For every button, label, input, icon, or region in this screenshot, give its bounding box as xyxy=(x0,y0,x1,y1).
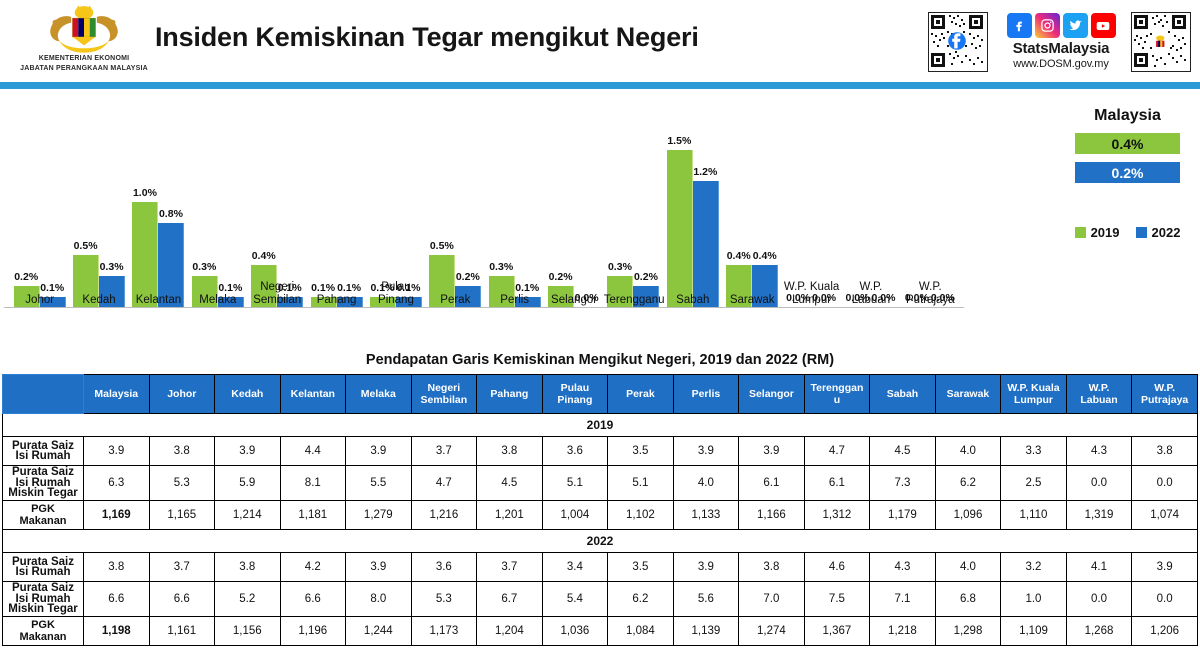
table-cell: 5.6 xyxy=(673,582,739,617)
legend-swatch-2019 xyxy=(1075,227,1086,238)
table-cell: 3.4 xyxy=(542,553,608,582)
table-cell: 1,204 xyxy=(477,617,543,646)
column-header-perlis[interactable]: Perlis xyxy=(673,375,739,414)
table-cell: 3.8 xyxy=(739,553,805,582)
bar-value-label: 0.2% xyxy=(456,271,480,283)
bar-value-label: 0.5% xyxy=(430,240,454,252)
table-cell: 3.5 xyxy=(608,553,674,582)
legend-label-2019: 2019 xyxy=(1091,225,1120,240)
bar-2019-sabah[interactable]: 1.5% xyxy=(667,150,693,308)
table-cell: 6.1 xyxy=(804,466,870,501)
table-cell: 1,109 xyxy=(1001,617,1067,646)
category-label: W.P.Putrajaya xyxy=(901,281,960,307)
table-cell: 1,298 xyxy=(935,617,1001,646)
table-cell: 4.4 xyxy=(280,437,346,466)
bar-value-label: 0.2% xyxy=(634,271,658,283)
bar-group: 0.3%0.2%Terengganu xyxy=(604,131,663,307)
table-cell: 1,206 xyxy=(1132,617,1198,646)
table-cell: 1,173 xyxy=(411,617,477,646)
category-label: Kelantan xyxy=(129,294,188,307)
table-row: Purata SaizIsi RumahMiskin Tegar6.35.35.… xyxy=(3,466,1198,501)
bar-value-label: 0.8% xyxy=(159,208,183,220)
table-cell: 3.8 xyxy=(84,553,150,582)
table-cell: 1,201 xyxy=(477,501,543,530)
column-header-sarawak[interactable]: Sarawak xyxy=(935,375,1001,414)
bar-value-label: 0.1% xyxy=(218,282,242,294)
social-icon-row xyxy=(1000,13,1122,38)
bar-value-label: 0.2% xyxy=(14,271,38,283)
category-label: Johor xyxy=(10,294,69,307)
column-header-johor[interactable]: Johor xyxy=(149,375,215,414)
page-header: KEMENTERIAN EKONOMI JABATAN PERANGKAAN M… xyxy=(0,0,1200,82)
table-cell: 1,161 xyxy=(149,617,215,646)
facebook-icon[interactable] xyxy=(1007,13,1032,38)
table-cell: 8.1 xyxy=(280,466,346,501)
category-label: Selangor xyxy=(544,294,603,307)
row-header: PGKMakanan xyxy=(3,501,84,530)
table-row: Purata SaizIsi RumahMiskin Tegar6.66.65.… xyxy=(3,582,1198,617)
table-cell: 1,181 xyxy=(280,501,346,530)
table-cell: 8.0 xyxy=(346,582,412,617)
table-cell: 0.0 xyxy=(1132,466,1198,501)
column-header-wplabuan[interactable]: W.P.Labuan xyxy=(1066,375,1132,414)
table-cell: 3.9 xyxy=(673,553,739,582)
table-cell: 3.9 xyxy=(84,437,150,466)
bar-group: 0.1%0.1%Pahang xyxy=(307,131,366,307)
column-header-pahang[interactable]: Pahang xyxy=(477,375,543,414)
column-header-kedah[interactable]: Kedah xyxy=(215,375,281,414)
table-cell: 6.3 xyxy=(84,466,150,501)
bar-value-label: 1.0% xyxy=(133,187,157,199)
category-label: NegeriSembilan xyxy=(248,281,307,307)
table-cell: 1,279 xyxy=(346,501,412,530)
table-cell: 1,110 xyxy=(1001,501,1067,530)
malaysia-value-2019: 0.4% xyxy=(1075,133,1180,154)
table-cell: 4.5 xyxy=(477,466,543,501)
bar-value-label: 0.1% xyxy=(515,282,539,294)
category-label: Perlis xyxy=(485,294,544,307)
row-header: Purata SaizIsi RumahMiskin Tegar xyxy=(3,466,84,501)
table-cell: 1.0 xyxy=(1001,582,1067,617)
table-cell: 6.2 xyxy=(608,582,674,617)
table-cell: 0.0 xyxy=(1132,582,1198,617)
table-cell: 1,166 xyxy=(739,501,805,530)
bar-group: 0.1%0.1%Pulau Pinang xyxy=(366,131,425,307)
bar-group: 0.2%0.0%Selangor xyxy=(544,131,603,307)
table-cell: 7.5 xyxy=(804,582,870,617)
bar-group: 0.2%0.1%Johor xyxy=(10,131,69,307)
bar-group: 0.3%0.1%Perlis xyxy=(485,131,544,307)
table-row: Purata SaizIsi Rumah3.93.83.94.43.93.73.… xyxy=(3,437,1198,466)
table-cell: 5.4 xyxy=(542,582,608,617)
table-cell: 5.3 xyxy=(149,466,215,501)
column-header-melaka[interactable]: Melaka xyxy=(346,375,412,414)
social-handle: StatsMalaysia xyxy=(1000,40,1122,57)
table-cell: 3.9 xyxy=(346,553,412,582)
table-cell: 3.5 xyxy=(608,437,674,466)
table-cell: 3.9 xyxy=(346,437,412,466)
table-cell: 4.1 xyxy=(1066,553,1132,582)
bar-value-label: 0.3% xyxy=(489,261,513,273)
table-row: PGKMakanan1,1691,1651,2141,1811,2791,216… xyxy=(3,501,1198,530)
column-header-kelantan[interactable]: Kelantan xyxy=(280,375,346,414)
column-header-malaysia[interactable]: Malaysia xyxy=(84,375,150,414)
table-cell: 1,367 xyxy=(804,617,870,646)
column-header-selangor[interactable]: Selangor xyxy=(739,375,805,414)
table-cell: 4.7 xyxy=(411,466,477,501)
table-cell: 6.2 xyxy=(935,466,1001,501)
table-cell: 1,216 xyxy=(411,501,477,530)
bar-group: 1.0%0.8%Kelantan xyxy=(129,131,188,307)
column-header-negerisembilan[interactable]: NegeriSembilan xyxy=(411,375,477,414)
panel-title: Malaysia xyxy=(1060,107,1195,125)
page-title: Insiden Kemiskinan Tegar mengikut Negeri xyxy=(155,22,699,53)
table-cell: 3.8 xyxy=(1132,437,1198,466)
bar-pair: 1.0%0.8% xyxy=(132,202,184,307)
table-header: MalaysiaJohorKedahKelantanMelakaNegeriSe… xyxy=(3,375,1198,414)
table-cell: 3.9 xyxy=(673,437,739,466)
row-header: Purata SaizIsi RumahMiskin Tegar xyxy=(3,582,84,617)
category-label: Sarawak xyxy=(723,294,782,307)
table-row: PGKMakanan1,1981,1611,1561,1961,2441,173… xyxy=(3,617,1198,646)
bar-group: 0.5%0.3%Kedah xyxy=(69,131,128,307)
table-cell: 1,074 xyxy=(1132,501,1198,530)
table-cell: 4.0 xyxy=(935,437,1001,466)
row-header: Purata SaizIsi Rumah xyxy=(3,553,84,582)
table-cell: 3.9 xyxy=(1132,553,1198,582)
table-cell: 3.8 xyxy=(477,437,543,466)
legend-swatch-2022 xyxy=(1136,227,1147,238)
table-cell: 6.1 xyxy=(739,466,805,501)
category-label: Kedah xyxy=(69,294,128,307)
category-label: Pahang xyxy=(307,294,366,307)
table-cell: 1,312 xyxy=(804,501,870,530)
bar-group: 0.0%0.0%W.P.Putrajaya xyxy=(901,131,960,307)
table-cell: 3.8 xyxy=(215,553,281,582)
bar-group: 0.4%0.1%NegeriSembilan xyxy=(248,131,307,307)
bar-value-label: 1.2% xyxy=(693,166,717,178)
table-cell: 3.2 xyxy=(1001,553,1067,582)
table-cell: 5.1 xyxy=(542,466,608,501)
table-cell: 4.2 xyxy=(280,553,346,582)
header-accent-rule xyxy=(0,82,1200,89)
table-cell: 5.2 xyxy=(215,582,281,617)
bar-value-label: 0.4% xyxy=(753,250,777,262)
chart-plot-area: 0.2%0.1%Johor0.5%0.3%Kedah1.0%0.8%Kelant… xyxy=(4,89,964,351)
year-band-row: 2019 xyxy=(3,414,1198,437)
bar-value-label: 0.5% xyxy=(74,240,98,252)
year-band-label: 2019 xyxy=(3,414,1198,437)
table-cell: 6.8 xyxy=(935,582,1001,617)
malaysia-coat-of-arms-icon xyxy=(41,4,127,54)
table-row: Purata SaizIsi Rumah3.83.73.84.23.93.63.… xyxy=(3,553,1198,582)
poster-page: KEMENTERIAN EKONOMI JABATAN PERANGKAAN M… xyxy=(0,0,1200,668)
table-cell: 5.5 xyxy=(346,466,412,501)
bar-2022-sabah[interactable]: 1.2% xyxy=(693,181,719,307)
category-label: W.P. Labuan xyxy=(841,281,900,307)
table-cell: 0.0 xyxy=(1066,466,1132,501)
bar-group: 0.3%0.1%Melaka xyxy=(188,131,247,307)
bar-value-label: 1.5% xyxy=(667,135,691,147)
table-cell: 3.9 xyxy=(215,437,281,466)
table-header-row: MalaysiaJohorKedahKelantanMelakaNegeriSe… xyxy=(3,375,1198,414)
category-label: Pulau Pinang xyxy=(366,281,425,307)
table-cell: 6.7 xyxy=(477,582,543,617)
table-cell: 4.7 xyxy=(804,437,870,466)
table-cell: 7.1 xyxy=(870,582,936,617)
table-cell: 6.6 xyxy=(84,582,150,617)
bar-chart: 0.2%0.1%Johor0.5%0.3%Kedah1.0%0.8%Kelant… xyxy=(0,89,1200,351)
table-cell: 4.3 xyxy=(870,553,936,582)
agency-logo-block: KEMENTERIAN EKONOMI JABATAN PERANGKAAN M… xyxy=(18,4,150,73)
column-header-wpputrajaya[interactable]: W.P.Putrajaya xyxy=(1132,375,1198,414)
year-band-label: 2022 xyxy=(3,530,1198,553)
malaysia-value-2022: 0.2% xyxy=(1075,162,1180,183)
poverty-line-table: MalaysiaJohorKedahKelantanMelakaNegeriSe… xyxy=(2,374,1198,646)
table-cell: 1,084 xyxy=(608,617,674,646)
table-cell: 0.0 xyxy=(1066,582,1132,617)
table-cell: 1,004 xyxy=(542,501,608,530)
youtube-icon[interactable] xyxy=(1091,13,1116,38)
qr-code-facebook[interactable] xyxy=(928,12,988,72)
table-cell: 6.6 xyxy=(280,582,346,617)
table-cell: 4.5 xyxy=(870,437,936,466)
bar-value-label: 0.3% xyxy=(192,261,216,273)
table-cell: 4.6 xyxy=(804,553,870,582)
table-cell: 4.3 xyxy=(1066,437,1132,466)
bar-value-label: 0.4% xyxy=(252,250,276,262)
legend-item-2019[interactable]: 2019 xyxy=(1075,225,1120,240)
legend-item-2022[interactable]: 2022 xyxy=(1136,225,1181,240)
bar-group: 0.5%0.2%Perak xyxy=(426,131,485,307)
category-label: Terengganu xyxy=(604,294,663,307)
agency-caption-line2: JABATAN PERANGKAAN MALAYSIA xyxy=(18,65,150,74)
table-cell: 3.8 xyxy=(149,437,215,466)
table-cell: 1,244 xyxy=(346,617,412,646)
table-cell: 1,165 xyxy=(149,501,215,530)
social-media-block: StatsMalaysia www.DOSM.gov.my xyxy=(1000,13,1122,70)
bar-value-label: 0.3% xyxy=(608,261,632,273)
instagram-icon[interactable] xyxy=(1035,13,1060,38)
malaysia-summary-panel: Malaysia 0.4% 0.2% 2019 2022 xyxy=(1060,107,1195,240)
table-cell: 1,198 xyxy=(84,617,150,646)
bar-value-label: 0.1% xyxy=(337,282,361,294)
website-url: www.DOSM.gov.my xyxy=(1000,58,1122,70)
table-cell: 3.6 xyxy=(542,437,608,466)
table-cell: 1,319 xyxy=(1066,501,1132,530)
table-cell: 3.7 xyxy=(149,553,215,582)
bar-2019-kelantan[interactable]: 1.0% xyxy=(132,202,158,307)
table-cell: 3.6 xyxy=(411,553,477,582)
table-cell: 3.3 xyxy=(1001,437,1067,466)
bar-group: 0.0%0.0%W.P. KualaLumpur xyxy=(782,131,841,307)
qr-code-website[interactable] xyxy=(1131,12,1191,72)
bar-group: 0.4%0.4%Sarawak xyxy=(723,131,782,307)
table-cell: 5.1 xyxy=(608,466,674,501)
table-corner-cell xyxy=(3,375,84,414)
table-cell: 1,274 xyxy=(739,617,805,646)
table-cell: 1,196 xyxy=(280,617,346,646)
table-cell: 2.5 xyxy=(1001,466,1067,501)
table-cell: 4.0 xyxy=(935,553,1001,582)
category-label: Melaka xyxy=(188,294,247,307)
table-cell: 1,169 xyxy=(84,501,150,530)
column-header-terengganu[interactable]: Terengganu xyxy=(804,375,870,414)
legend-label-2022: 2022 xyxy=(1152,225,1181,240)
chart-legend: 2019 2022 xyxy=(1060,225,1195,240)
table-cell: 3.7 xyxy=(411,437,477,466)
table-cell: 3.7 xyxy=(477,553,543,582)
table-cell: 1,268 xyxy=(1066,617,1132,646)
table-body: 2019Purata SaizIsi Rumah3.93.83.94.43.93… xyxy=(3,414,1198,646)
table-cell: 1,214 xyxy=(215,501,281,530)
row-header: PGKMakanan xyxy=(3,617,84,646)
bar-pair: 1.5%1.2% xyxy=(667,150,719,308)
column-header-pulaupinang[interactable]: PulauPinang xyxy=(542,375,608,414)
table-title: Pendapatan Garis Kemiskinan Mengikut Neg… xyxy=(0,352,1200,368)
table-cell: 7.0 xyxy=(739,582,805,617)
table-cell: 6.6 xyxy=(149,582,215,617)
column-header-sabah[interactable]: Sabah xyxy=(870,375,936,414)
category-label: W.P. KualaLumpur xyxy=(782,281,841,307)
table-cell: 5.9 xyxy=(215,466,281,501)
category-label: Sabah xyxy=(663,294,722,307)
bar-value-label: 0.4% xyxy=(727,250,751,262)
bar-group: 0.0%0.0%W.P. Labuan xyxy=(841,131,900,307)
row-header: Purata SaizIsi Rumah xyxy=(3,437,84,466)
table-cell: 1,102 xyxy=(608,501,674,530)
table-cell: 3.9 xyxy=(739,437,805,466)
table-cell: 1,133 xyxy=(673,501,739,530)
table-cell: 1,156 xyxy=(215,617,281,646)
bar-value-label: 0.1% xyxy=(40,282,64,294)
table-cell: 1,179 xyxy=(870,501,936,530)
bar-value-label: 0.1% xyxy=(311,282,335,294)
agency-caption-line1: KEMENTERIAN EKONOMI xyxy=(18,55,150,64)
table-cell: 1,139 xyxy=(673,617,739,646)
twitter-icon[interactable] xyxy=(1063,13,1088,38)
table-cell: 1,096 xyxy=(935,501,1001,530)
table-cell: 1,218 xyxy=(870,617,936,646)
table-cell: 5.3 xyxy=(411,582,477,617)
category-label: Perak xyxy=(426,294,485,307)
table-cell: 7.3 xyxy=(870,466,936,501)
year-band-row: 2022 xyxy=(3,530,1198,553)
column-header-perak[interactable]: Perak xyxy=(608,375,674,414)
bar-value-label: 0.2% xyxy=(549,271,573,283)
bar-group: 1.5%1.2%Sabah xyxy=(663,131,722,307)
bar-value-label: 0.3% xyxy=(100,261,124,273)
table-cell: 1,036 xyxy=(542,617,608,646)
table-cell: 4.0 xyxy=(673,466,739,501)
column-header-wpkualalumpur[interactable]: W.P. KualaLumpur xyxy=(1001,375,1067,414)
